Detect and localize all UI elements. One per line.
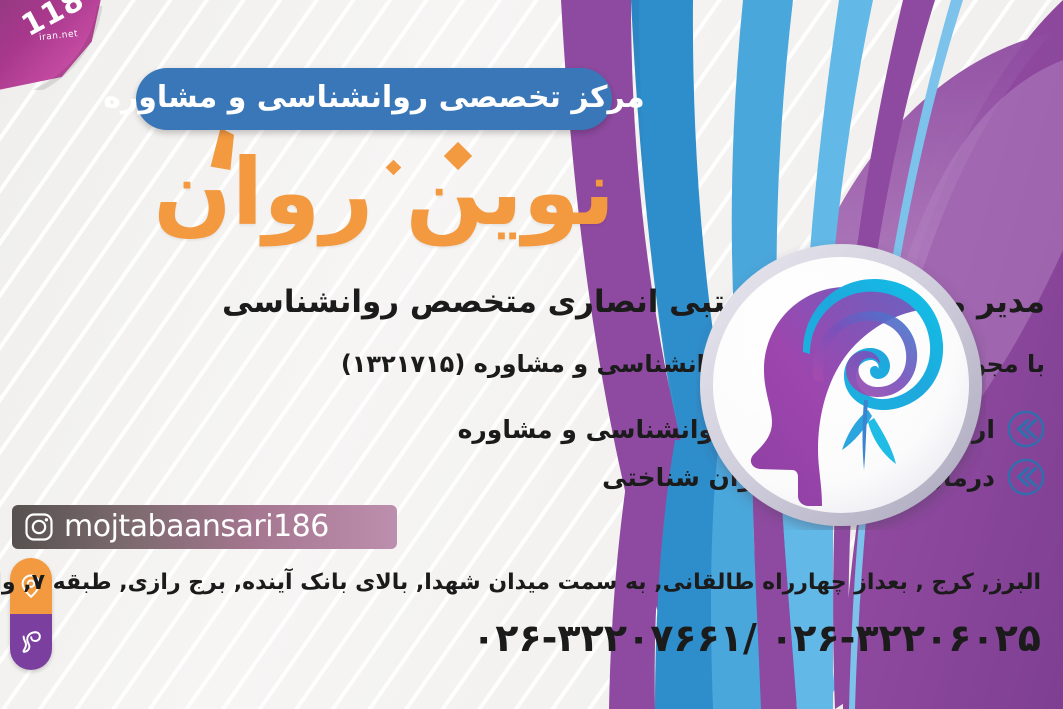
- headline-pill-label: مرکز تخصصی روانشناسی و مشاوره: [103, 80, 644, 119]
- instagram-icon: [24, 512, 54, 542]
- double-chevron-left-icon: [1007, 458, 1045, 496]
- phone-handset-icon: [18, 629, 44, 655]
- brand-name: نوین روان: [153, 135, 615, 250]
- double-chevron-left-icon: [1007, 410, 1045, 448]
- instagram-bar[interactable]: mojtabaansari186: [12, 505, 397, 549]
- headline-pill: مرکز تخصصی روانشناسی و مشاوره: [136, 68, 612, 130]
- phone-icon-slot: [10, 614, 52, 670]
- phone-line: ۰۲۶-۳۲۲۰۶۰۲۵ /۰۲۶-۳۲۲۰۷۶۶۱: [472, 616, 1041, 660]
- business-card-canvas: 118 iran.net مرکز تخصصی روانشناسی و مشاو…: [0, 0, 1063, 709]
- head-spiral-brain-icon: [696, 240, 986, 530]
- instagram-handle: mojtabaansari186: [64, 512, 329, 542]
- address-line: البرز, کرج , بعداز چهارراه طالقانی, به س…: [0, 570, 1041, 595]
- corner-badge-118: 118 iran.net: [0, 0, 112, 90]
